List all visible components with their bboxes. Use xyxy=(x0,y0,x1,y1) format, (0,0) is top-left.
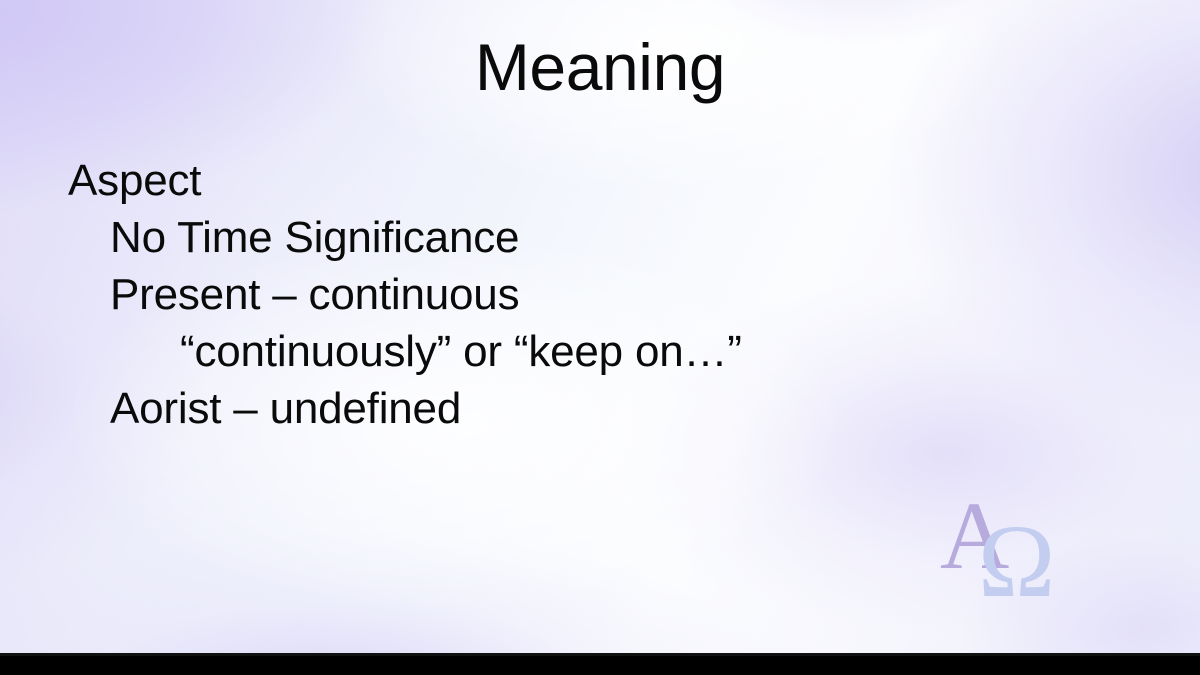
omega-glyph: Ω xyxy=(978,504,1055,604)
slide-viewer: Meaning Aspect No Time Significance Pres… xyxy=(0,0,1200,675)
slide-body: Aspect No Time Significance Present – co… xyxy=(0,152,1130,437)
bullet-aorist-undefined: Aorist – undefined xyxy=(0,380,1130,437)
bullet-no-time-significance: No Time Significance xyxy=(0,209,1130,266)
alpha-omega-logo: Α Ω xyxy=(938,492,1078,604)
letterbox-bottom-bar xyxy=(0,656,1200,675)
slide-title: Meaning xyxy=(0,32,1200,103)
bullet-aspect: Aspect xyxy=(0,152,1130,209)
alpha-glyph: Α xyxy=(940,492,1009,589)
bullet-continuously-keep-on: “continuously” or “keep on…” xyxy=(0,323,1130,380)
presentation-slide: Meaning Aspect No Time Significance Pres… xyxy=(0,0,1200,656)
bullet-present-continuous: Present – continuous xyxy=(0,266,1130,323)
